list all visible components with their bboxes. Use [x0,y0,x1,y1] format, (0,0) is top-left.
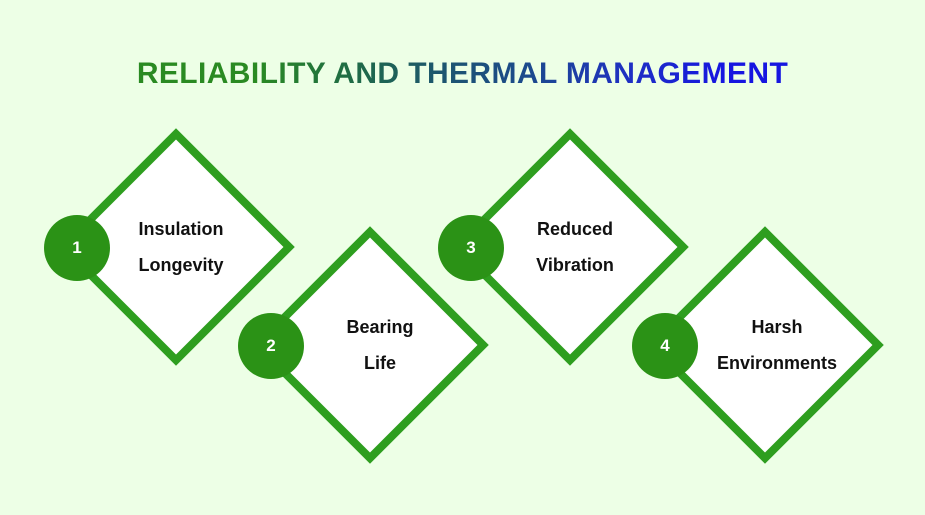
step-badge-4[interactable]: 4 [632,313,698,379]
step-badge-2[interactable]: 2 [238,313,304,379]
diamond-sequence: Insulation Longevity 1 Bearing Life 2 Re… [0,0,925,515]
step-badge-3[interactable]: 3 [438,215,504,281]
infographic-canvas: RELIABILITY AND THERMAL MANAGEMENT Insul… [0,0,925,515]
step-badge-1[interactable]: 1 [44,215,110,281]
